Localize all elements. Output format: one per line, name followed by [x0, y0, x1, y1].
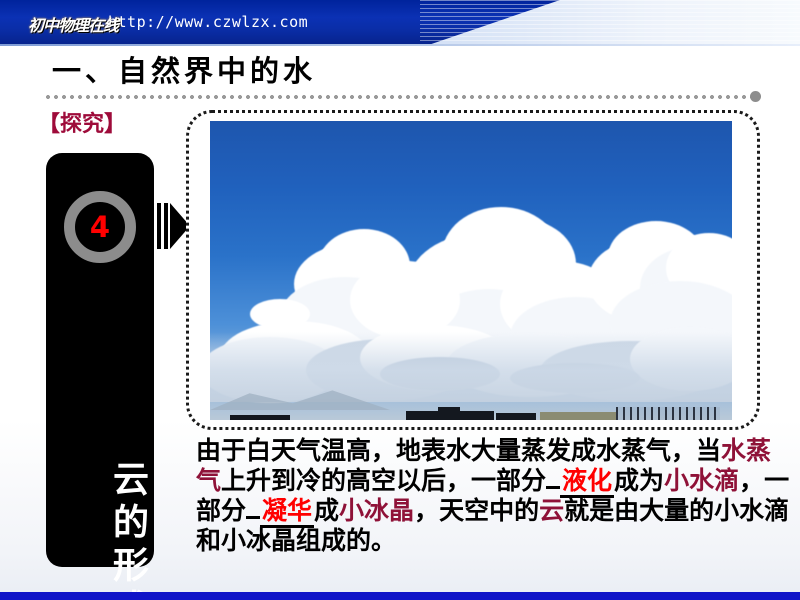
- building-silhouette: [438, 407, 460, 420]
- inquiry-label: 【探究】: [38, 106, 126, 138]
- footer-bar: [0, 592, 800, 600]
- step-badge-ring: 4: [64, 191, 136, 263]
- keyword-ice-crystals: 小冰晶: [339, 496, 414, 525]
- answer-liquefaction: 液化: [560, 466, 614, 498]
- slide-canvas: 初中物理在线 http://www.czwlzx.com 一、自然界中的水 【探…: [0, 0, 800, 600]
- keyword-cloud: 云: [539, 496, 564, 525]
- building-silhouette: [540, 412, 618, 420]
- title-divider-end-dot: [750, 91, 761, 102]
- body-line3-mid: 成: [314, 496, 339, 525]
- building-silhouette: [496, 413, 536, 420]
- page-title: 一、自然界中的水: [52, 48, 316, 90]
- rooftop-fence: [616, 407, 720, 420]
- body-line3-tail: 就: [564, 496, 589, 525]
- step-number: 4: [90, 213, 110, 242]
- cloud-photo: [210, 121, 732, 420]
- body-line3-mid2: ，天空中的: [414, 496, 539, 525]
- site-url-text: http://www.czwlzx.com: [108, 13, 308, 31]
- body-line2-tail: 成为: [614, 466, 664, 495]
- horizon-haze: [210, 332, 732, 402]
- step-panel: 4 云的形成: [46, 153, 154, 567]
- site-logo: 初中物理在线: [28, 12, 118, 36]
- body-paragraph: 由于白天气温高，地表水大量蒸发成水蒸气，当水蒸气上升到冷的高空以后，一部分液化成…: [196, 436, 792, 556]
- header-underline: [0, 44, 800, 46]
- panel-vertical-title: 云的形成: [46, 421, 154, 600]
- header-stripe-texture: [420, 0, 800, 46]
- title-divider: [44, 95, 754, 99]
- arrow-bar-inner: [164, 203, 168, 249]
- blank-underline-left: [546, 486, 560, 489]
- city-skyline: [210, 406, 732, 420]
- answer-deposition: 凝华: [260, 496, 314, 528]
- building-silhouette: [230, 415, 290, 420]
- blank-underline-left-2: [246, 516, 260, 519]
- keyword-water-droplets: 小水滴: [664, 466, 739, 495]
- cloud-wisp: [250, 299, 310, 329]
- body-line2-text: 上升到冷的高空以后，一部分: [221, 466, 546, 495]
- body-line1: 由于白天气温高，地表水大量蒸发成水蒸气，当: [196, 436, 721, 465]
- arrow-bar-outer: [157, 203, 161, 249]
- header-banner: 初中物理在线 http://www.czwlzx.com: [0, 0, 800, 46]
